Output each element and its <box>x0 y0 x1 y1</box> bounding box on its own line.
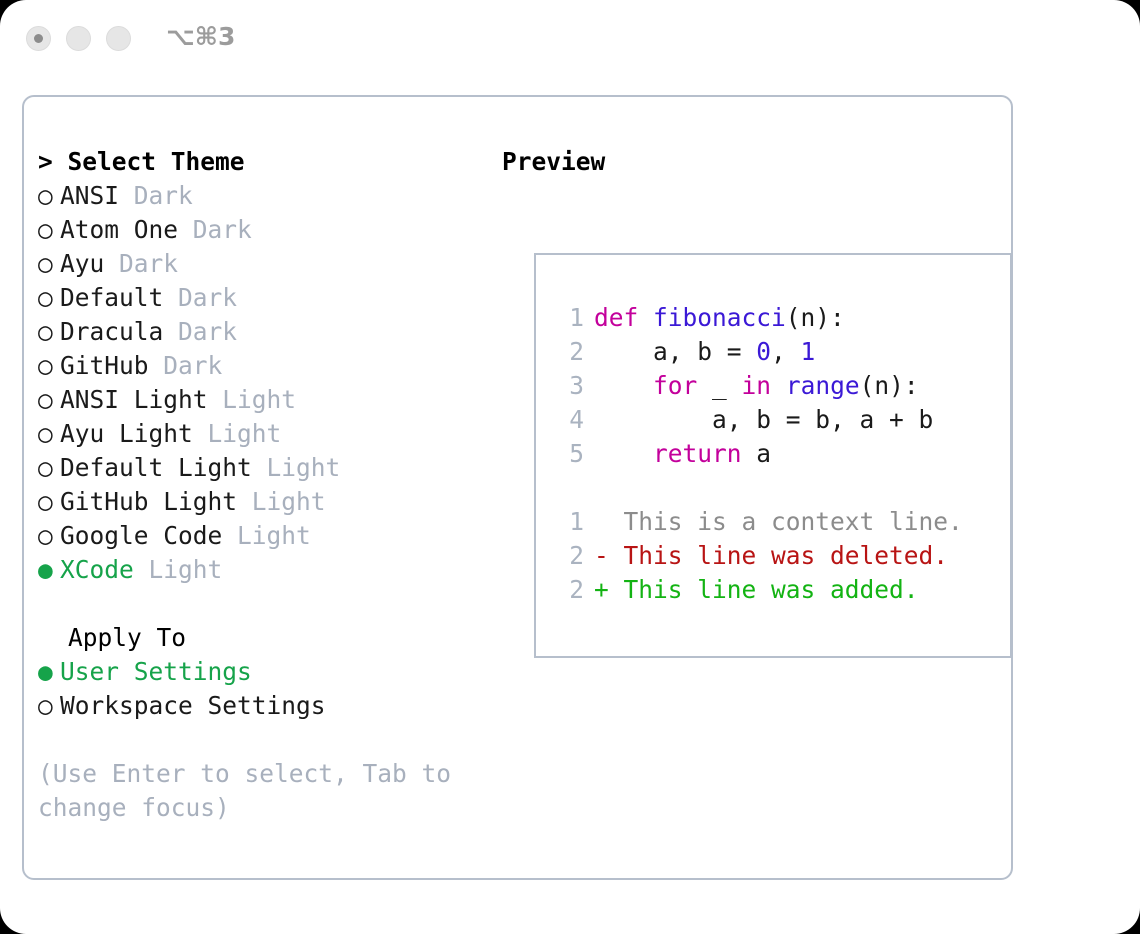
code-token: 0 <box>756 337 771 366</box>
theme-item-kind: Light <box>208 419 282 448</box>
code-token: a <box>742 439 772 468</box>
theme-item-label: Dracula <box>60 317 163 346</box>
theme-item-label: ANSI Light <box>60 385 208 414</box>
code-token: for <box>653 371 697 400</box>
apply-to-item-label: User Settings <box>60 657 252 686</box>
theme-item[interactable]: ○Dracula Dark <box>38 315 488 349</box>
preview-column: Preview 1def fibonacci(n):2 a, b = 0, 13… <box>502 145 1002 179</box>
code-token <box>771 371 786 400</box>
code-line: 2 a, b = 0, 1 <box>556 335 1004 369</box>
code-line-number: 4 <box>556 403 584 437</box>
apply-to-item-label: Workspace Settings <box>60 691 326 720</box>
code-token: def <box>594 303 638 332</box>
diff-line: 2+ This line was added. <box>556 573 1004 607</box>
code-token: (n): <box>860 371 919 400</box>
theme-item-label: GitHub Light <box>60 487 237 516</box>
theme-item-kind: Light <box>267 453 341 482</box>
diff-text: This is a context line. <box>624 507 963 536</box>
code-line-number: 2 <box>556 335 584 369</box>
apply-to-item[interactable]: ○Workspace Settings <box>38 689 488 723</box>
theme-item[interactable]: ○Ayu Light Light <box>38 417 488 451</box>
theme-item[interactable]: ○GitHub Dark <box>38 349 488 383</box>
diff-marker <box>594 507 624 536</box>
traffic-light-maximize-icon[interactable] <box>106 26 131 51</box>
radio-selected-icon: ● <box>38 655 60 689</box>
code-line: 5 return a <box>556 437 1004 471</box>
diff-line-number: 1 <box>556 505 584 539</box>
code-token: a, b = <box>594 337 756 366</box>
theme-item[interactable]: ○Ayu Dark <box>38 247 488 281</box>
code-line-number: 5 <box>556 437 584 471</box>
window-titlebar: ⌥⌘3 <box>0 0 1140 78</box>
theme-item-label: Google Code <box>60 521 222 550</box>
content-panel: > Select Theme ○ANSI Dark○Atom One Dark○… <box>22 95 1013 880</box>
theme-item-kind: Dark <box>119 249 178 278</box>
theme-item[interactable]: ○GitHub Light Light <box>38 485 488 519</box>
diff-line-number: 2 <box>556 573 584 607</box>
theme-selector-column: > Select Theme ○ANSI Dark○Atom One Dark○… <box>38 145 488 825</box>
radio-unselected-icon: ○ <box>38 179 60 213</box>
traffic-light-record-icon[interactable] <box>26 26 51 51</box>
radio-unselected-icon: ○ <box>38 485 60 519</box>
diff-text: This line was deleted. <box>624 541 949 570</box>
theme-item-kind: Light <box>222 385 296 414</box>
theme-item[interactable]: ○Default Dark <box>38 281 488 315</box>
theme-item[interactable]: ○Default Light Light <box>38 451 488 485</box>
code-token: _ <box>697 371 741 400</box>
theme-item-label: Default Light <box>60 453 252 482</box>
code-diff-separator <box>556 471 1004 505</box>
theme-list[interactable]: ○ANSI Dark○Atom One Dark○Ayu Dark○Defaul… <box>38 179 488 587</box>
select-theme-header: > Select Theme <box>38 145 488 179</box>
theme-item-kind: Dark <box>178 317 237 346</box>
code-line-number: 1 <box>556 301 584 335</box>
theme-item[interactable]: ○ANSI Dark <box>38 179 488 213</box>
diff-text: This line was added. <box>624 575 919 604</box>
code-line: 3 for _ in range(n): <box>556 369 1004 403</box>
apply-to-list[interactable]: ●User Settings○Workspace Settings <box>38 655 488 723</box>
radio-unselected-icon: ○ <box>38 689 60 723</box>
theme-item-kind: Light <box>237 521 311 550</box>
theme-item[interactable]: ○Atom One Dark <box>38 213 488 247</box>
code-line: 1def fibonacci(n): <box>556 301 1004 335</box>
traffic-light-minimize-icon[interactable] <box>66 26 91 51</box>
preview-header: Preview <box>502 145 1002 179</box>
theme-item[interactable]: ○ANSI Light Light <box>38 383 488 417</box>
diff-marker: + <box>594 575 624 604</box>
radio-unselected-icon: ○ <box>38 315 60 349</box>
radio-unselected-icon: ○ <box>38 383 60 417</box>
code-token: 1 <box>801 337 816 366</box>
code-token: in <box>742 371 772 400</box>
code-token: (n): <box>786 303 845 332</box>
radio-unselected-icon: ○ <box>38 213 60 247</box>
code-token: return <box>653 439 742 468</box>
theme-item-label: Atom One <box>60 215 178 244</box>
code-line-number: 3 <box>556 369 584 403</box>
theme-item-kind: Dark <box>134 181 193 210</box>
code-token: range <box>786 371 860 400</box>
code-token: a, b = b, a + b <box>594 405 933 434</box>
theme-item-label: Default <box>60 283 163 312</box>
theme-item-kind: Dark <box>193 215 252 244</box>
radio-unselected-icon: ○ <box>38 247 60 281</box>
theme-item-kind: Dark <box>163 351 222 380</box>
diff-line-number: 2 <box>556 539 584 573</box>
apply-to-header: Apply To <box>38 621 488 655</box>
theme-item-label: GitHub <box>60 351 149 380</box>
theme-item-kind: Light <box>252 487 326 516</box>
theme-item-label: XCode <box>60 555 134 584</box>
diff-marker: - <box>594 541 624 570</box>
theme-item-label: ANSI <box>60 181 119 210</box>
diff-line: 1 This is a context line. <box>556 505 1004 539</box>
code-token: , <box>771 337 801 366</box>
diff-line: 2- This line was deleted. <box>556 539 1004 573</box>
radio-selected-icon: ● <box>38 553 60 587</box>
radio-unselected-icon: ○ <box>38 281 60 315</box>
preview-box: 1def fibonacci(n):2 a, b = 0, 13 for _ i… <box>534 253 1012 658</box>
theme-item-label: Ayu <box>60 249 104 278</box>
theme-item-label: Ayu Light <box>60 419 193 448</box>
code-sample: 1def fibonacci(n):2 a, b = 0, 13 for _ i… <box>556 301 1004 607</box>
theme-item[interactable]: ●XCode Light <box>38 553 488 587</box>
theme-item-kind: Light <box>149 555 223 584</box>
keyboard-shortcut-label: ⌥⌘3 <box>166 22 235 51</box>
app-window: ⌥⌘3 > Select Theme ○ANSI Dark○Atom One D… <box>0 0 1140 934</box>
radio-unselected-icon: ○ <box>38 451 60 485</box>
radio-unselected-icon: ○ <box>38 519 60 553</box>
code-token <box>594 439 653 468</box>
code-line: 4 a, b = b, a + b <box>556 403 1004 437</box>
radio-unselected-icon: ○ <box>38 349 60 383</box>
radio-unselected-icon: ○ <box>38 417 60 451</box>
theme-item-kind: Dark <box>178 283 237 312</box>
code-token <box>638 303 653 332</box>
theme-item[interactable]: ○Google Code Light <box>38 519 488 553</box>
code-token <box>594 371 653 400</box>
apply-to-item[interactable]: ●User Settings <box>38 655 488 689</box>
keyboard-hint-text: (Use Enter to select, Tab to change focu… <box>38 757 458 825</box>
code-token: fibonacci <box>653 303 786 332</box>
